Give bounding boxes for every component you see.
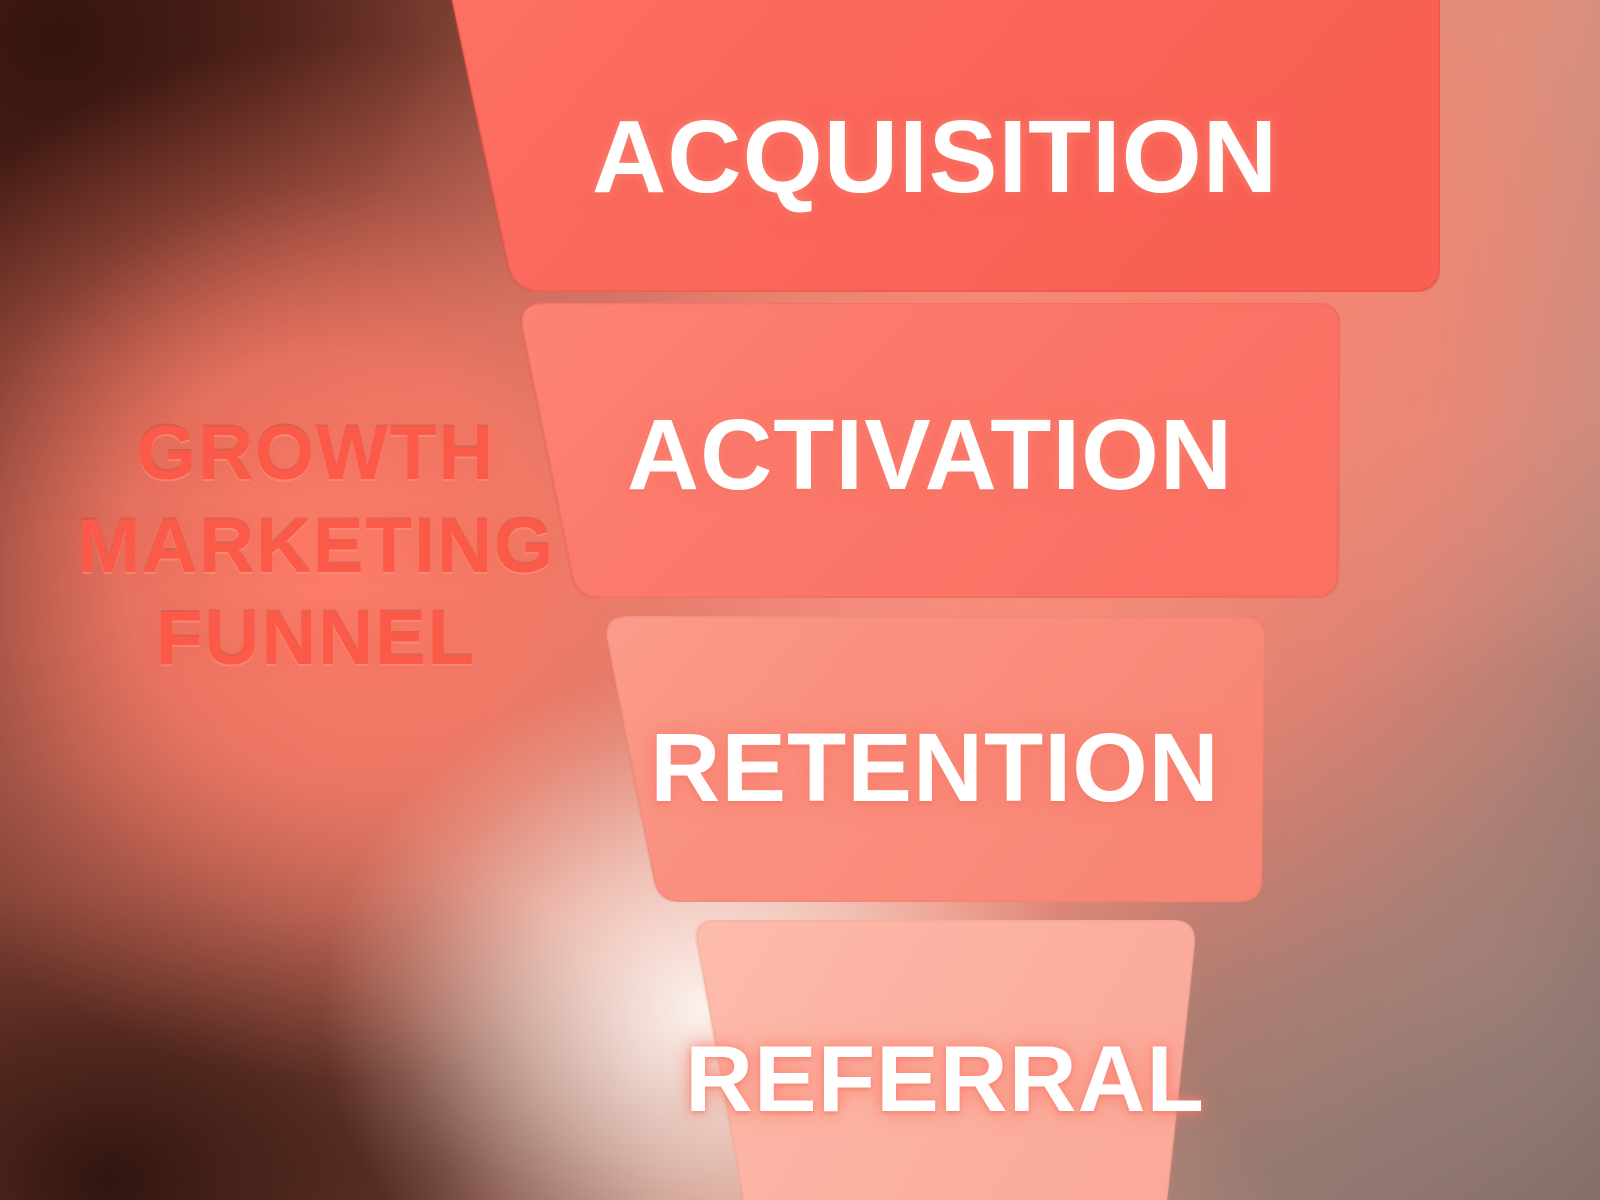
- funnel-diagram: ACQUISITION ACTIVATION: [0, 0, 1600, 1200]
- funnel-stage-referral-label: REFERRAL: [685, 1025, 1205, 1133]
- funnel-stage-activation[interactable]: ACTIVATION: [520, 303, 1340, 598]
- funnel-infographic: GROWTH MARKETING FUNNEL ACQUISITION: [0, 0, 1600, 1200]
- funnel-stage-acquisition[interactable]: ACQUISITION: [430, 0, 1440, 292]
- funnel-stage-activation-label: ACTIVATION: [627, 398, 1233, 513]
- funnel-stage-retention-label: RETENTION: [650, 712, 1219, 824]
- funnel-stage-referral[interactable]: REFERRAL: [695, 920, 1195, 1200]
- funnel-stage-retention[interactable]: RETENTION: [605, 616, 1265, 902]
- funnel-stage-acquisition-label: ACQUISITION: [592, 98, 1278, 216]
